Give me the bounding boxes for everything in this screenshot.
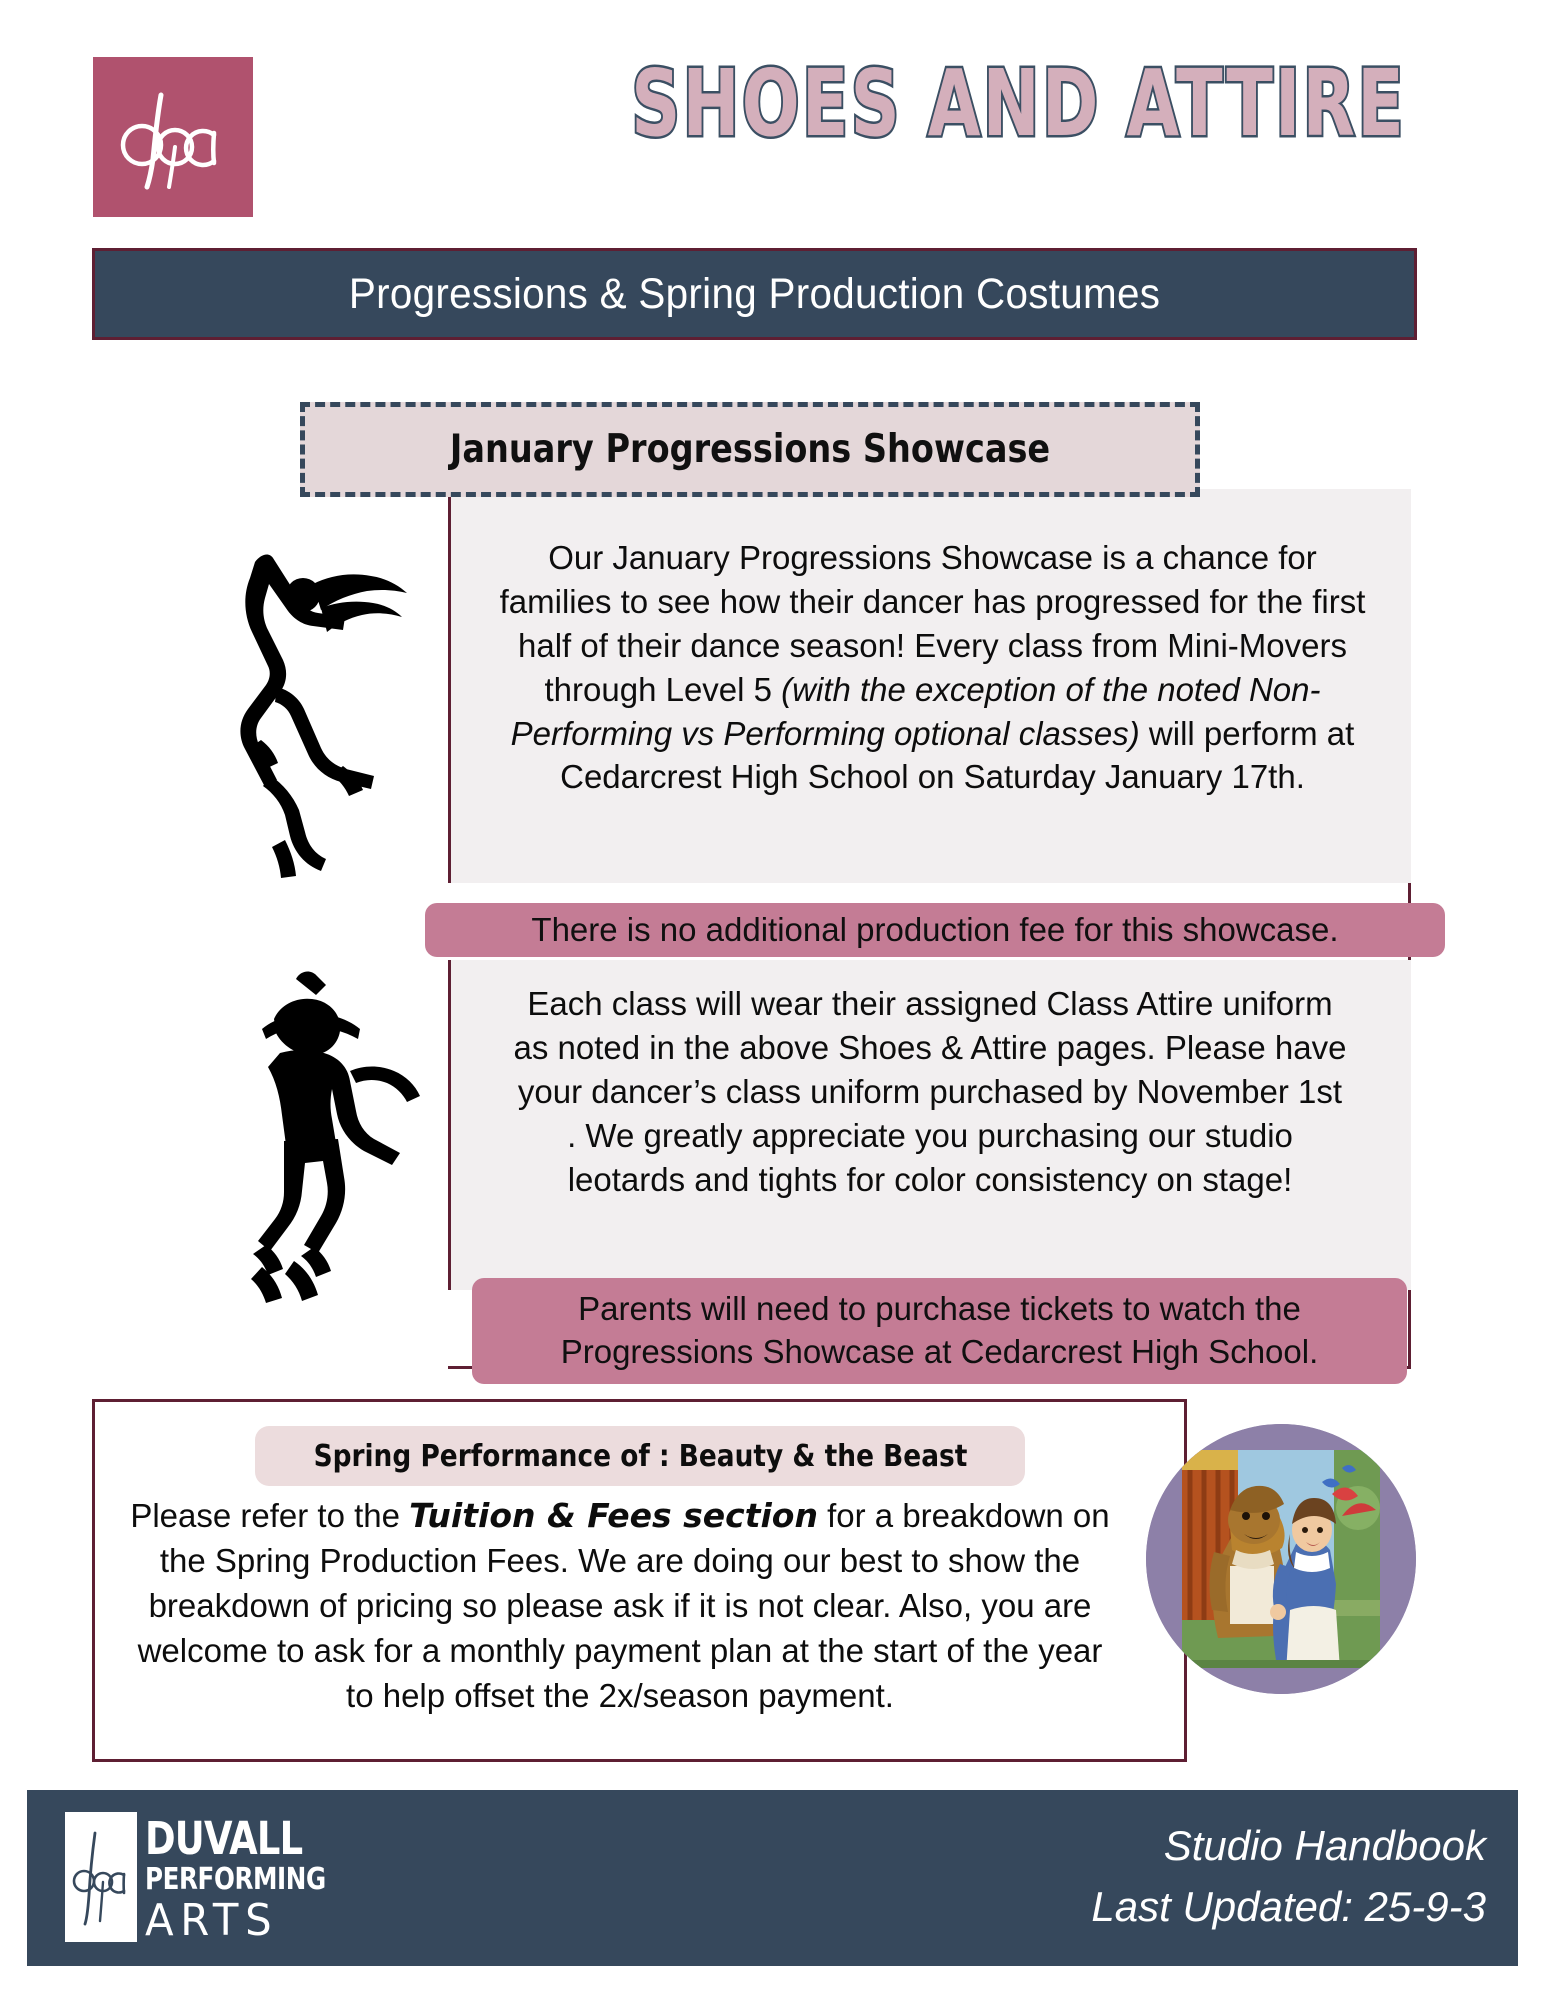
page-title: SHOES AND ATTIRE: [631, 44, 1378, 164]
footer-wordmark: DUVALL PERFORMING ARTS: [145, 1816, 375, 1942]
footer-handbook-label: Studio Handbook: [1091, 1816, 1486, 1877]
spring-performance-badge-text: Spring Performance of : Beauty & the Bea…: [313, 1439, 967, 1474]
beauty-and-the-beast-photo: [1146, 1424, 1416, 1694]
document-page: SHOES AND ATTIRE Progressions & Spring P…: [0, 0, 1545, 2000]
page-header: SHOES AND ATTIRE: [0, 0, 1545, 250]
no-production-fee-callout: There is no additional production fee fo…: [425, 903, 1445, 957]
dancer-silhouette-jazz-icon: [225, 540, 440, 890]
january-showcase-heading-text: January Progressions Showcase: [450, 427, 1050, 472]
subtitle-bar: Progressions & Spring Production Costume…: [92, 248, 1417, 340]
footer-last-updated: Last Updated: 25-9-3: [1091, 1877, 1486, 1938]
january-showcase-heading: January Progressions Showcase: [300, 402, 1200, 497]
footer-wordmark-duvall: DUVALL: [145, 1816, 334, 1861]
spring-paragraph-bold: Tuition & Fees section: [409, 1496, 818, 1535]
footer-wordmark-arts: ARTS: [145, 1899, 364, 1943]
subtitle-text: Progressions & Spring Production Costume…: [349, 270, 1160, 319]
spring-performance-badge: Spring Performance of : Beauty & the Bea…: [255, 1426, 1025, 1486]
footer-wordmark-performing: PERFORMING: [145, 1865, 334, 1895]
ticket-purchase-callout-text: Parents will need to purchase tickets to…: [486, 1288, 1393, 1374]
dpa-logo: [93, 57, 253, 217]
spring-paragraph-part1: Please refer to the: [130, 1497, 409, 1534]
no-production-fee-callout-text: There is no additional production fee fo…: [531, 909, 1338, 952]
dancer-silhouette-hiphop-icon: [210, 965, 435, 1310]
footer-meta: Studio Handbook Last Updated: 25-9-3: [1091, 1816, 1486, 1938]
spring-performance-paragraph: Please refer to the Tuition & Fees secti…: [120, 1494, 1120, 1718]
showcase-paragraph-bottom: Each class will wear their assigned Clas…: [510, 982, 1350, 1201]
showcase-paragraph-top: Our January Progressions Showcase is a c…: [490, 536, 1375, 799]
footer-dpa-logo: [65, 1812, 137, 1942]
ticket-purchase-callout: Parents will need to purchase tickets to…: [472, 1278, 1407, 1384]
page-footer: DUVALL PERFORMING ARTS Studio Handbook L…: [27, 1790, 1518, 1966]
